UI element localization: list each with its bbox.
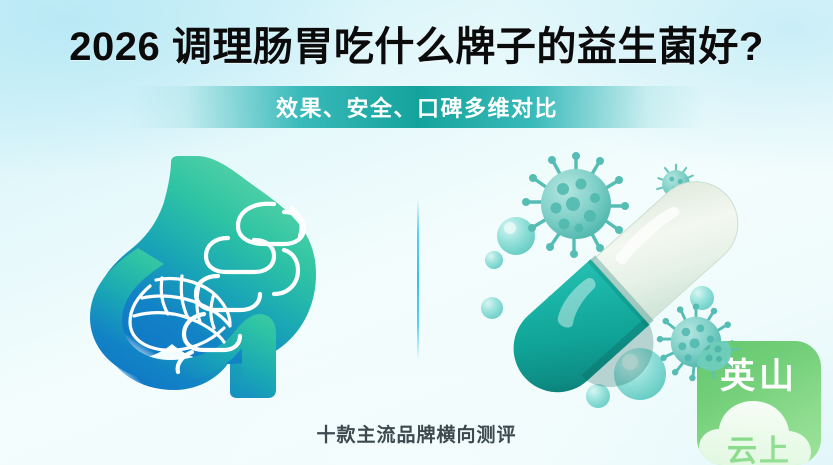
logo-badge[interactable]: 英山 云上 [697, 341, 821, 465]
bubble [485, 251, 503, 269]
cloud-icon: 云上 [697, 391, 821, 465]
stomach-icon [78, 146, 358, 414]
subtitle-text: 效果、安全、口碑多维对比 [276, 91, 558, 123]
stomach-illustration [78, 146, 358, 414]
virus-particle-small [697, 341, 743, 383]
poster-canvas: 2026 调理肠胃吃什么牌子的益生菌好? 效果、安全、口碑多维对比 [0, 0, 833, 465]
vertical-divider [417, 198, 419, 360]
bubble [481, 297, 503, 319]
bubble [586, 384, 610, 408]
bubble [497, 217, 535, 255]
page-title: 2026 调理肠胃吃什么牌子的益生菌好? [0, 14, 833, 72]
subtitle-banner: 效果、安全、口碑多维对比 [128, 86, 706, 128]
